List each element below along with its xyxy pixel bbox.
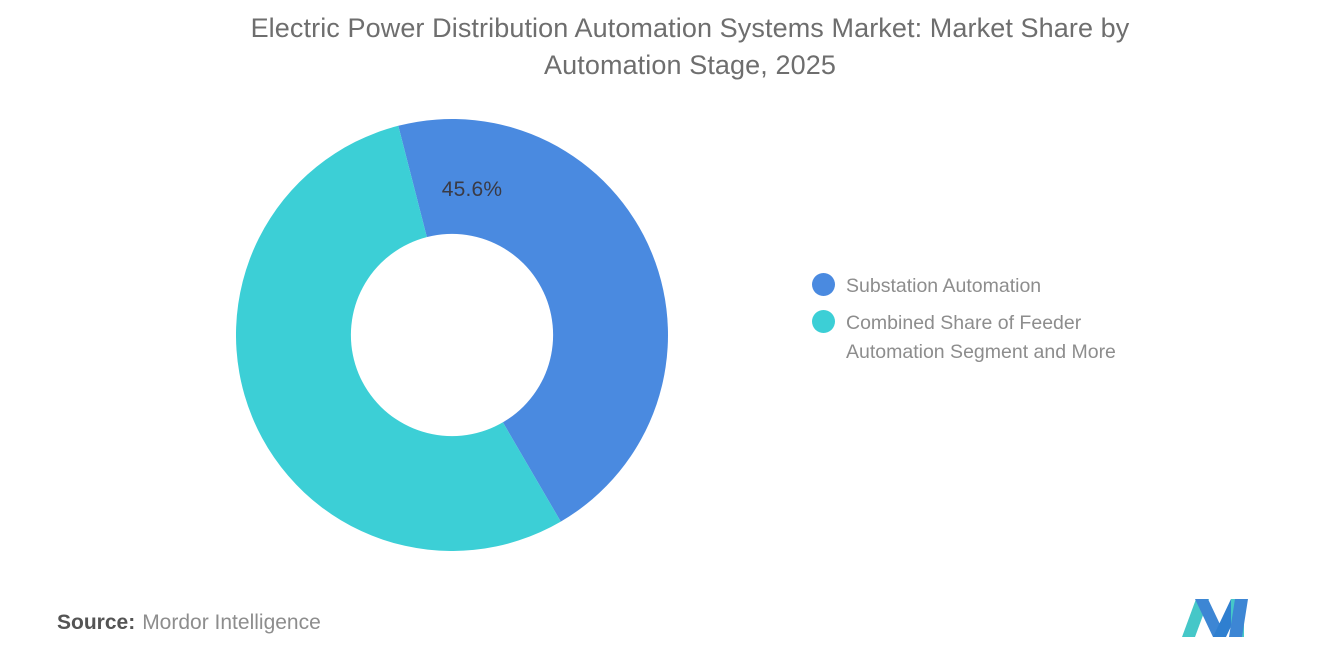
legend-item-label: Substation Automation bbox=[846, 272, 1041, 300]
legend-item-combined-share-feeder-automation[interactable]: Combined Share of Feeder Automation Segm… bbox=[812, 309, 1232, 366]
legend-swatch-icon-blue bbox=[812, 273, 835, 296]
chart-title: Electric Power Distribution Automation S… bbox=[150, 10, 1230, 85]
legend-item-substation-automation[interactable]: Substation Automation bbox=[812, 272, 1232, 300]
mordor-intelligence-logo bbox=[1182, 599, 1254, 637]
chart-container: Electric Power Distribution Automation S… bbox=[0, 0, 1320, 665]
source-line: Source:Mordor Intelligence bbox=[57, 612, 321, 633]
legend-swatch-icon-teal bbox=[812, 310, 835, 333]
source-label: Source: bbox=[57, 611, 135, 634]
donut-slice-label-substation-automation: 45.6% bbox=[402, 178, 542, 202]
legend-item-label: Combined Share of Feeder Automation Segm… bbox=[846, 309, 1116, 366]
source-value: Mordor Intelligence bbox=[142, 611, 321, 634]
chart-legend: Substation Automation Combined Share of … bbox=[812, 272, 1232, 375]
logo-mark-icon bbox=[1182, 599, 1254, 637]
donut-hole bbox=[351, 234, 553, 436]
